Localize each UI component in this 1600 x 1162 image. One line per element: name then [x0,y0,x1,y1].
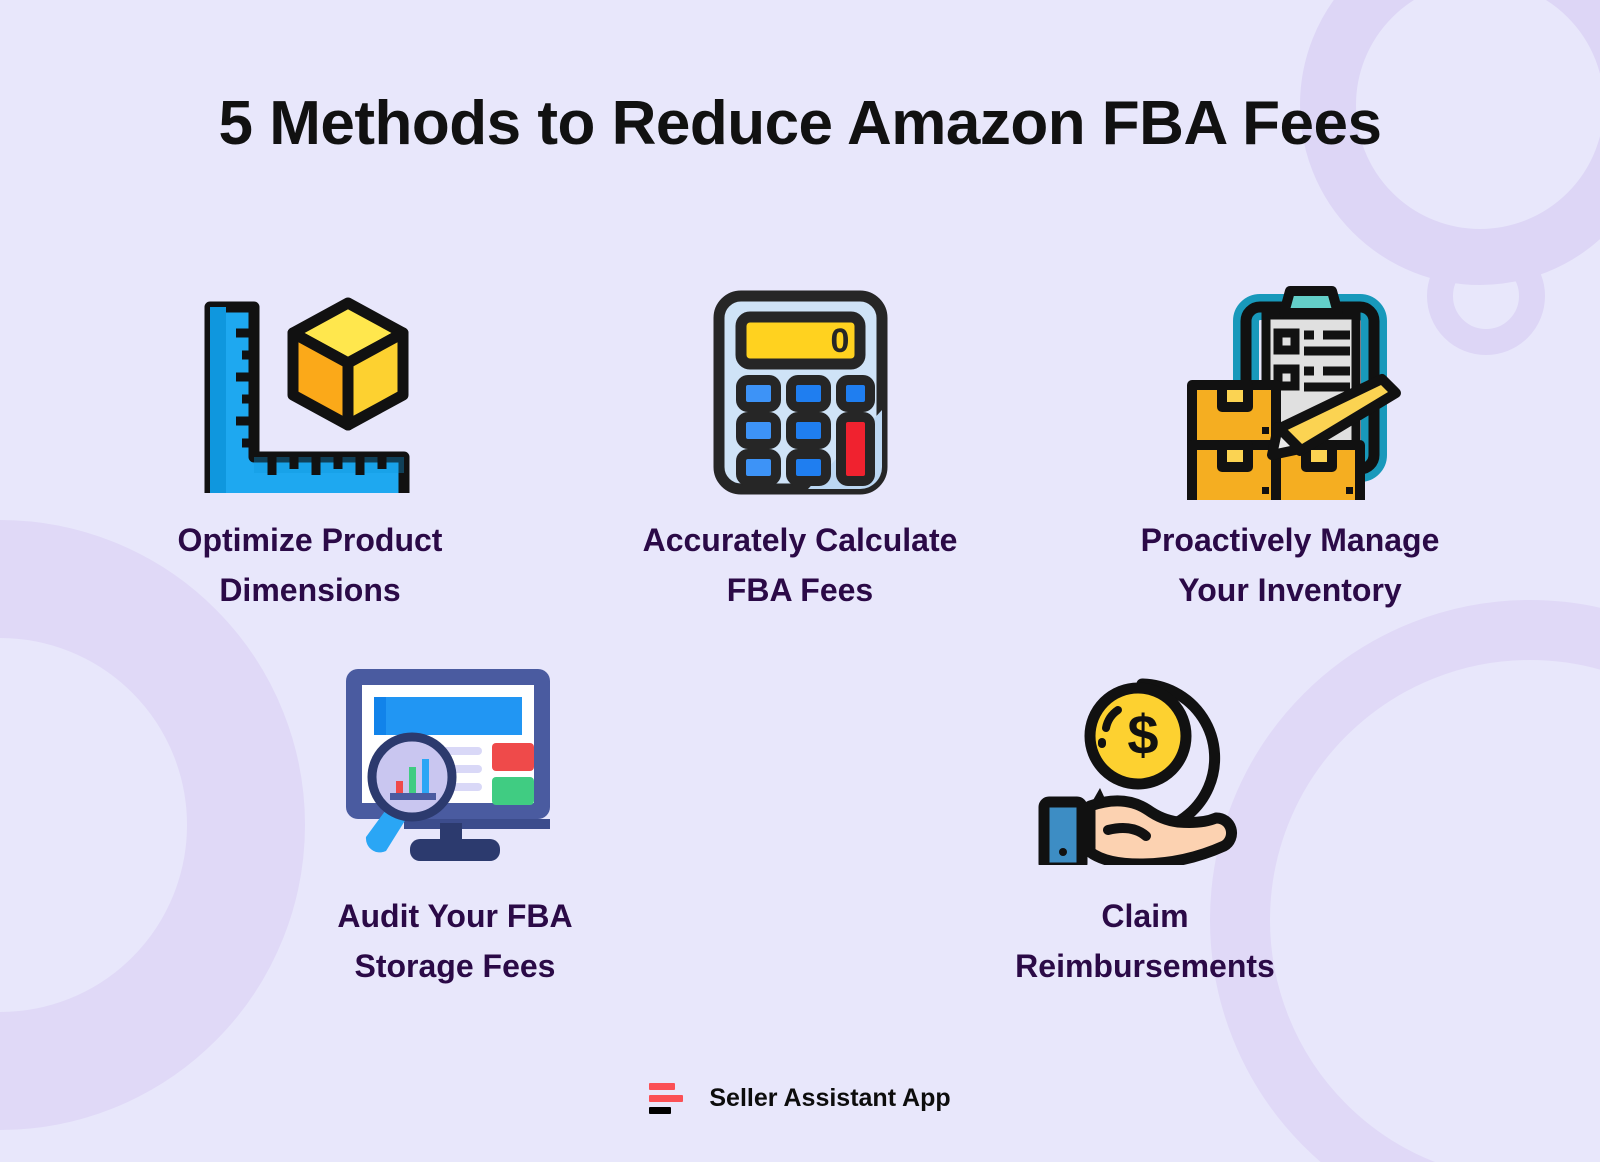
methods-row-1: Optimize Product Dimensions 0 [0,285,1600,615]
method-5-label-line2: Reimbursements [1015,948,1275,984]
method-card-4: Audit Your FBA Storage Fees [290,655,620,991]
method-4-label: Audit Your FBA Storage Fees [337,892,572,991]
logo-bar-middle [649,1095,683,1102]
method-2-icon-box: 0 [713,285,888,500]
method-4-label-line1: Audit Your FBA [337,898,572,934]
method-3-label: Proactively Manage Your Inventory [1141,516,1440,615]
method-card-2: 0 Accurately Calculate FBA Fees [635,285,965,615]
method-5-icon-box: $ [1038,655,1253,870]
method-card-1: Optimize Product Dimensions [145,285,475,615]
calculator-icon: 0 [713,290,888,495]
method-1-icon-box [200,285,420,500]
clipboard-boxes-pencil-icon [1178,285,1403,500]
method-1-label-line1: Optimize Product [178,522,443,558]
method-1-label: Optimize Product Dimensions [178,516,443,615]
block-red [492,743,534,771]
ruler-cube-icon [200,293,420,493]
methods-row-2: Audit Your FBA Storage Fees $ [0,655,1600,991]
method-3-label-line1: Proactively Manage [1141,522,1440,558]
method-4-label-line2: Storage Fees [355,948,556,984]
method-2-label-line1: Accurately Calculate [643,522,958,558]
method-2-label: Accurately Calculate FBA Fees [643,516,958,615]
logo-bar-bottom [649,1107,671,1114]
method-1-label-line2: Dimensions [219,572,400,608]
calculator-display-value: 0 [830,322,849,360]
dollar-symbol: $ [1127,703,1158,766]
method-card-5: $ Claim Reimbursements [980,655,1310,991]
method-2-label-line2: FBA Fees [727,572,873,608]
method-3-label-line2: Your Inventory [1178,572,1401,608]
logo-bar-top [649,1083,675,1090]
method-5-label: Claim Reimbursements [1015,892,1275,991]
seller-assistant-logo-icon [649,1083,685,1114]
method-3-icon-box [1178,285,1403,500]
magnifier [366,737,452,852]
block-green [492,777,534,805]
monitor-analytics-magnifier-icon [340,663,570,863]
method-card-3: Proactively Manage Your Inventory [1125,285,1455,615]
method-5-label-line1: Claim [1101,898,1188,934]
method-4-icon-box [340,655,570,870]
hand-coin-refund-icon: $ [1038,660,1253,865]
footer-branding: Seller Assistant App [0,1083,1600,1114]
page-title: 5 Methods to Reduce Amazon FBA Fees [0,88,1600,159]
footer-brand-name: Seller Assistant App [709,1084,950,1113]
